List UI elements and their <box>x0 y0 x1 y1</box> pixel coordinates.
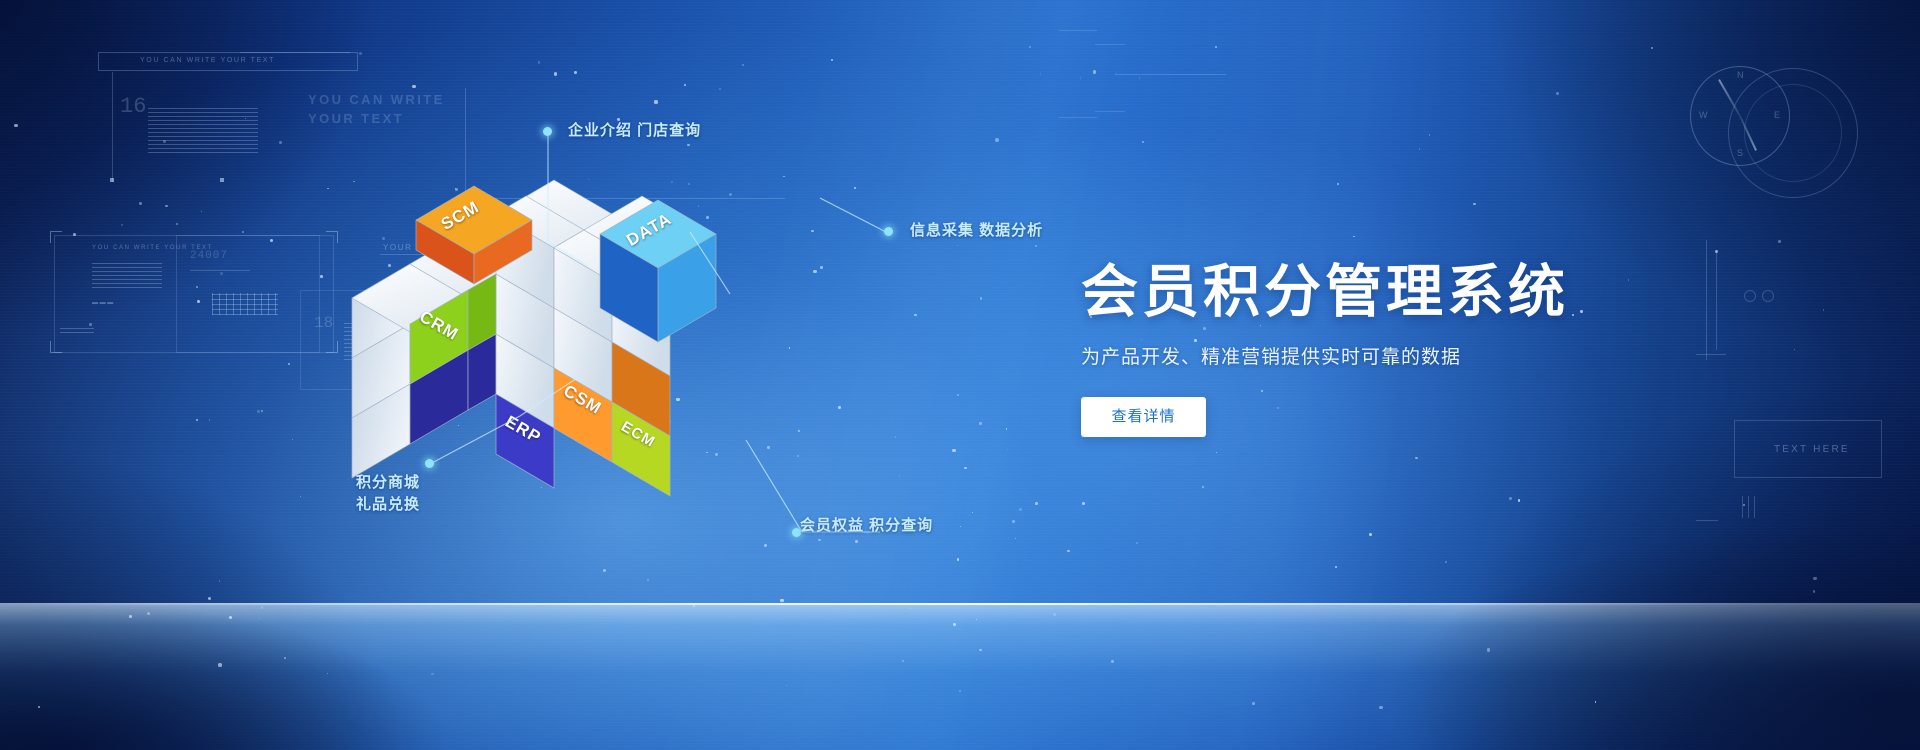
callout-dot-enterprise <box>543 127 552 136</box>
callout-points-mall-line1: 积分商城 <box>356 472 420 494</box>
callout-dot-data <box>884 227 893 236</box>
callout-data-text: 信息采集 数据分析 <box>910 220 1043 242</box>
particle-field <box>0 0 1920 750</box>
callout-member-rights-text: 会员权益 积分查询 <box>800 515 933 537</box>
callout-enterprise-text: 企业介绍 门店查询 <box>568 120 701 142</box>
callout-dot-points-mall <box>425 459 434 468</box>
callout-points-mall-line2: 礼品兑换 <box>356 494 420 516</box>
view-details-button[interactable]: 查看详情 <box>1081 397 1206 437</box>
callout-leader-data-2 <box>690 232 860 342</box>
callout-leader-points-mall <box>420 376 600 496</box>
page-subtitle: 为产品开发、精准营销提供实时可靠的数据 <box>1081 342 1601 369</box>
callout-leader-enterprise <box>540 124 660 274</box>
hero-banner: YOU CAN WRITE YOUR TEXT 16 YOU CAN WRITE… <box>0 0 1920 750</box>
callout-leader-member-rights <box>720 440 920 570</box>
page-title: 会员积分管理系统 <box>1081 258 1601 326</box>
hero-content: 会员积分管理系统 为产品开发、精准营销提供实时可靠的数据 查看详情 <box>1081 258 1601 437</box>
